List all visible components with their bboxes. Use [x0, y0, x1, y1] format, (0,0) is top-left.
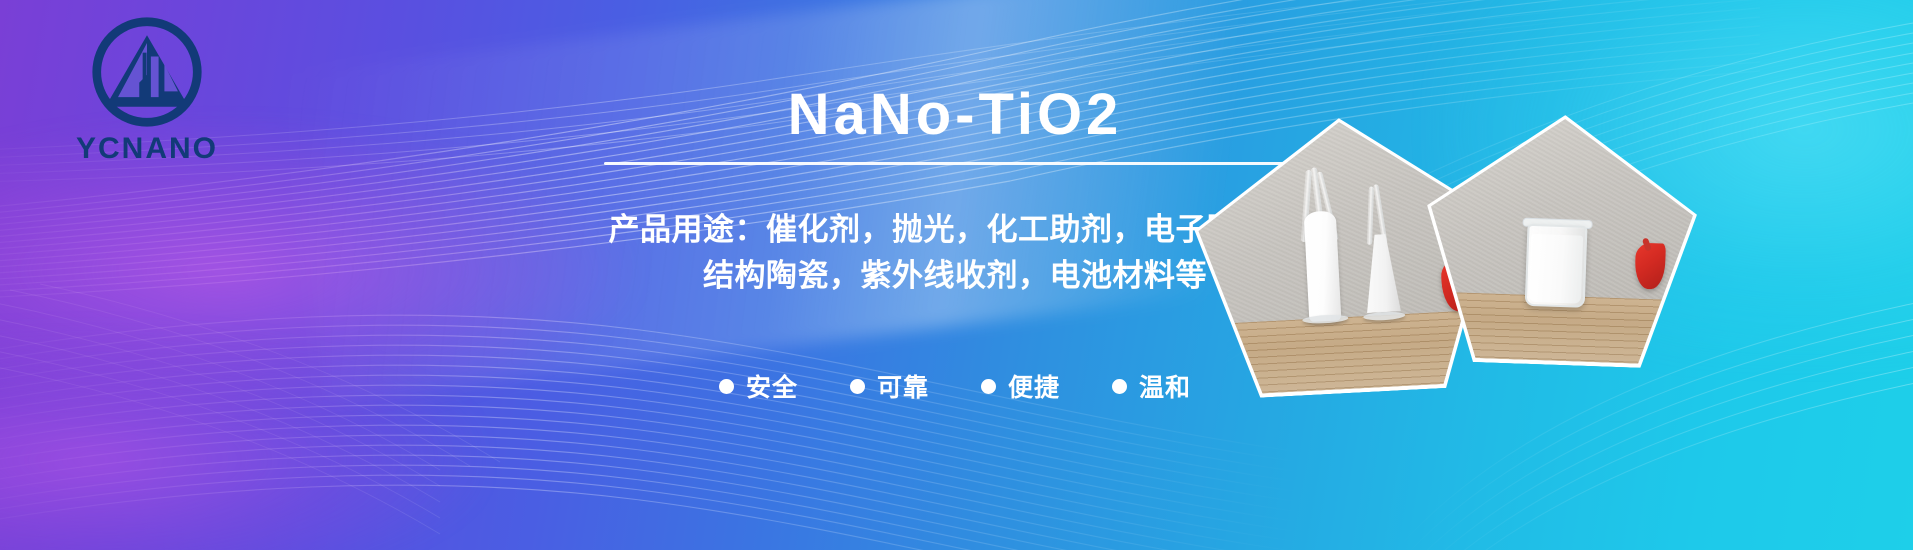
feature-label: 便捷 — [1008, 368, 1060, 404]
feature-item-convenient: 便捷 — [981, 368, 1060, 404]
feature-label: 安全 — [746, 368, 798, 404]
scene-table — [1203, 309, 1498, 396]
feature-item-reliable: 可靠 — [850, 368, 929, 404]
white-vase-tall — [1304, 210, 1342, 322]
dot-bullet-icon — [850, 379, 865, 394]
product-hero-banner: YCNANO NaNo-TiO2 产品用途：催化剂，抛光，化工助剂，电子陶瓷， … — [0, 0, 1913, 550]
beaker-scene — [1426, 115, 1696, 366]
dot-bullet-icon — [981, 379, 996, 394]
product-photo-beaker[interactable] — [1422, 110, 1701, 369]
feature-label: 可靠 — [877, 368, 929, 404]
ycnano-triangle-circle-logo-icon — [89, 14, 205, 130]
product-image-group — [1173, 0, 1913, 550]
feature-item-safe: 安全 — [719, 368, 798, 404]
brand-name: YCNANO — [52, 132, 242, 166]
white-liquid — [1529, 234, 1583, 304]
brand-logo[interactable]: YCNANO — [52, 14, 242, 166]
magenta-glow-lower — [0, 330, 480, 550]
dot-bullet-icon — [1112, 379, 1127, 394]
dot-bullet-icon — [719, 379, 734, 394]
